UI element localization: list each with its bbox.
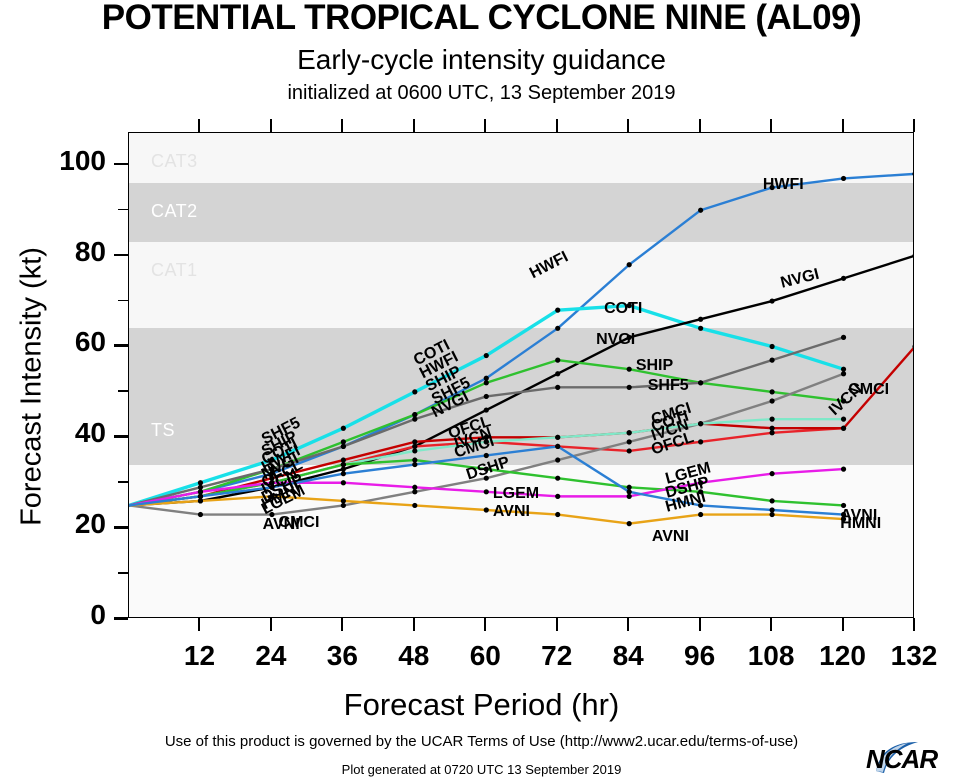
x-tick-top bbox=[913, 119, 915, 132]
series-point-cmci bbox=[769, 398, 774, 403]
series-point-nvgi bbox=[484, 407, 489, 412]
x-tick bbox=[556, 618, 558, 631]
generated-timestamp: Plot generated at 0720 UTC 13 September … bbox=[0, 762, 963, 777]
series-point-lgem bbox=[198, 489, 203, 494]
series-point-lgem bbox=[555, 494, 560, 499]
y-tick bbox=[114, 435, 128, 438]
series-point-coti bbox=[341, 426, 346, 431]
series-point-ofcl bbox=[412, 444, 417, 449]
series-point-hmni bbox=[412, 462, 417, 467]
series-point-ship bbox=[341, 439, 346, 444]
x-tick bbox=[198, 618, 200, 631]
series-point-lgem bbox=[841, 467, 846, 472]
x-tick-top bbox=[270, 119, 272, 132]
series-point-edeck bbox=[698, 421, 703, 426]
series-point-avni bbox=[698, 512, 703, 517]
y-tick bbox=[114, 163, 128, 166]
y-tick bbox=[114, 344, 128, 347]
x-tick bbox=[770, 618, 772, 631]
series-line-ivcn bbox=[129, 346, 914, 505]
series-point-shf5 bbox=[341, 444, 346, 449]
series-point-ship bbox=[627, 367, 632, 372]
y-tick-label: 60 bbox=[16, 326, 106, 358]
series-point-edeck bbox=[769, 417, 774, 422]
series-point-hmni bbox=[769, 507, 774, 512]
series-point-ivcn bbox=[841, 426, 846, 431]
series-label-avni: AVNI bbox=[652, 528, 689, 546]
y-tick bbox=[114, 526, 128, 529]
y-tick-minor bbox=[118, 481, 128, 483]
y-tick-label: 100 bbox=[16, 145, 106, 177]
series-point-coti bbox=[198, 480, 203, 485]
series-point-ofcl bbox=[698, 439, 703, 444]
series-point-shf5 bbox=[555, 385, 560, 390]
series-point-ivcn bbox=[769, 426, 774, 431]
x-tick-top bbox=[341, 119, 343, 132]
series-point-hwfi bbox=[698, 208, 703, 213]
x-tick-top bbox=[770, 119, 772, 132]
series-point-hwfi bbox=[484, 376, 489, 381]
y-tick-label: 40 bbox=[16, 417, 106, 449]
x-tick bbox=[484, 618, 486, 631]
chart-plot-area: TSCAT1CAT2CAT3 bbox=[128, 132, 914, 618]
series-point-shf5 bbox=[412, 417, 417, 422]
series-point-lgem bbox=[412, 485, 417, 490]
series-point-edeck bbox=[555, 435, 560, 440]
series-point-edeck bbox=[841, 417, 846, 422]
series-point-dshp bbox=[341, 462, 346, 467]
x-tick-top bbox=[484, 119, 486, 132]
series-point-shf5 bbox=[769, 358, 774, 363]
x-tick-top bbox=[556, 119, 558, 132]
x-tick-label: 132 bbox=[869, 640, 959, 672]
series-label-ship: SHIP bbox=[636, 357, 673, 375]
series-point-coti bbox=[555, 308, 560, 313]
series-point-nvgi bbox=[841, 276, 846, 281]
series-point-hmni bbox=[555, 444, 560, 449]
series-point-avni bbox=[412, 503, 417, 508]
series-point-nvgi bbox=[555, 371, 560, 376]
y-axis-label: Forecast Intensity (kt) bbox=[16, 162, 49, 612]
x-axis-label: Forecast Period (hr) bbox=[0, 687, 963, 723]
x-tick bbox=[270, 618, 272, 631]
x-tick bbox=[699, 618, 701, 631]
series-label-lgem: LGEM bbox=[493, 485, 539, 503]
y-tick-label: 20 bbox=[16, 508, 106, 540]
x-tick bbox=[842, 618, 844, 631]
series-point-cmci bbox=[555, 457, 560, 462]
series-point-ship bbox=[484, 380, 489, 385]
x-tick-top bbox=[842, 119, 844, 132]
series-point-avni bbox=[555, 512, 560, 517]
series-point-dshp bbox=[769, 498, 774, 503]
series-point-avni bbox=[627, 521, 632, 526]
series-point-hwfi bbox=[841, 176, 846, 181]
series-label-cmci: CMCI bbox=[279, 514, 320, 532]
x-tick bbox=[913, 618, 915, 631]
series-point-coti bbox=[412, 389, 417, 394]
series-point-shf5 bbox=[627, 385, 632, 390]
series-label-avni: AVNI bbox=[493, 503, 530, 521]
series-label-shf5: SHF5 bbox=[648, 377, 689, 395]
series-point-ship bbox=[769, 389, 774, 394]
y-tick-label: 0 bbox=[16, 599, 106, 631]
y-tick-minor bbox=[118, 209, 128, 211]
series-point-hmni bbox=[627, 489, 632, 494]
series-point-nvgi bbox=[698, 317, 703, 322]
series-line-hwfi bbox=[129, 174, 914, 506]
series-point-dshp bbox=[555, 476, 560, 481]
y-tick-minor bbox=[118, 572, 128, 574]
series-point-nvgi bbox=[769, 298, 774, 303]
series-point-coti bbox=[698, 326, 703, 331]
series-point-hwfi bbox=[555, 326, 560, 331]
y-tick-minor bbox=[118, 390, 128, 392]
terms-of-use-text: Use of this product is governed by the U… bbox=[0, 733, 963, 750]
initialization-time: initialized at 0600 UTC, 13 September 20… bbox=[0, 82, 963, 105]
series-point-hwfi bbox=[912, 171, 914, 176]
page-title: POTENTIAL TROPICAL CYCLONE NINE (AL09) bbox=[0, 0, 963, 38]
series-point-ofcl bbox=[627, 448, 632, 453]
series-point-lgem bbox=[627, 494, 632, 499]
series-point-avni bbox=[198, 498, 203, 503]
series-point-lgem bbox=[484, 489, 489, 494]
x-tick-top bbox=[413, 119, 415, 132]
x-tick-top bbox=[627, 119, 629, 132]
y-tick-minor bbox=[118, 300, 128, 302]
series-point-dshp bbox=[627, 485, 632, 490]
x-tick bbox=[341, 618, 343, 631]
series-point-avni bbox=[484, 507, 489, 512]
y-tick bbox=[114, 254, 128, 257]
series-point-coti bbox=[484, 353, 489, 358]
series-label-coti: COTI bbox=[604, 300, 642, 318]
series-point-ship bbox=[555, 358, 560, 363]
series-point-shf5 bbox=[698, 380, 703, 385]
series-label-nvgi: NVGI bbox=[596, 331, 635, 349]
series-point-edeck bbox=[412, 448, 417, 453]
page-subtitle: Early-cycle intensity guidance bbox=[0, 44, 963, 76]
series-point-shf5 bbox=[841, 335, 846, 340]
series-point-edeck bbox=[627, 430, 632, 435]
series-label-hwfi: HWFI bbox=[763, 176, 804, 194]
series-point-ivcn bbox=[341, 457, 346, 462]
series-point-shf5 bbox=[484, 394, 489, 399]
series-point-ship bbox=[412, 412, 417, 417]
series-point-cmci bbox=[627, 439, 632, 444]
x-tick bbox=[627, 618, 629, 631]
series-point-cmci bbox=[412, 489, 417, 494]
series-point-lgem bbox=[769, 471, 774, 476]
series-point-coti bbox=[841, 367, 846, 372]
series-point-avni bbox=[769, 512, 774, 517]
series-point-coti bbox=[769, 344, 774, 349]
y-tick bbox=[114, 617, 128, 620]
series-point-ivcn bbox=[412, 439, 417, 444]
series-point-cmci bbox=[841, 371, 846, 376]
series-point-ofcl bbox=[769, 430, 774, 435]
series-point-hwfi bbox=[627, 262, 632, 267]
series-point-avni bbox=[341, 498, 346, 503]
series-point-cmci bbox=[341, 503, 346, 508]
series-point-shf5 bbox=[198, 485, 203, 490]
ncar-logo-text: NCAR bbox=[866, 744, 937, 775]
series-point-cmci bbox=[198, 512, 203, 517]
x-tick-top bbox=[699, 119, 701, 132]
series-label-hmni: HMNI bbox=[840, 515, 881, 533]
forecast-series-lines bbox=[129, 133, 914, 618]
series-point-nvgi bbox=[341, 467, 346, 472]
series-point-hmni bbox=[341, 471, 346, 476]
series-point-lgem bbox=[341, 480, 346, 485]
x-tick bbox=[413, 618, 415, 631]
series-point-dshp bbox=[412, 457, 417, 462]
y-tick-label: 80 bbox=[16, 236, 106, 268]
x-tick-top bbox=[198, 119, 200, 132]
series-point-hmni bbox=[198, 494, 203, 499]
